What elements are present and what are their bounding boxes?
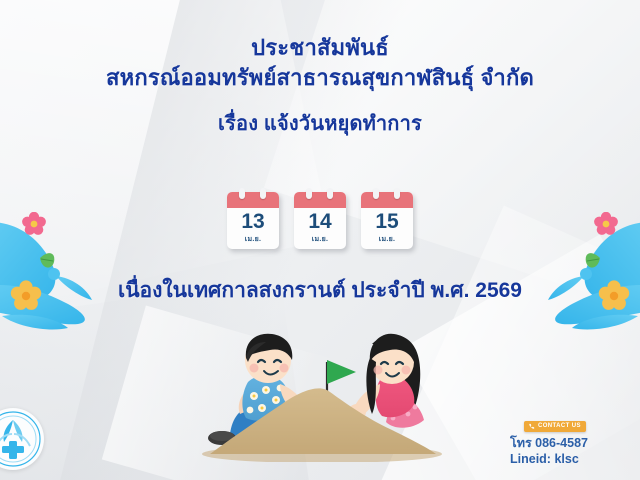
calendar-icon: 15 เม.ย. (361, 192, 413, 249)
children-sand-pagoda-illustration (196, 322, 446, 467)
calendar-day-number: 14 (294, 208, 346, 236)
calendar-header-band (294, 192, 346, 208)
calendar-ring-icon (260, 188, 266, 199)
calendar-ring-icon (394, 188, 400, 199)
calendar-ring-icon (239, 188, 245, 199)
contact-us-badge[interactable]: CONTACT US (524, 421, 586, 432)
calendar-month-label: เม.ย. (294, 234, 346, 245)
calendar-month-label: เม.ย. (227, 234, 279, 245)
holiday-dates-row: 13 เม.ย. 14 เม.ย. 15 เม.ย. (0, 192, 640, 249)
contact-phone: โทร 086-4587 (510, 435, 640, 452)
contact-us-label: CONTACT US (538, 423, 581, 429)
organization-name: สหกรณ์ออมทรัพย์สาธารณสุขกาฬสินธุ์ จำกัด (0, 64, 640, 92)
cooperative-logo (0, 408, 44, 470)
green-flag-icon (327, 360, 356, 384)
heading-block: ประชาสัมพันธ์ สหกรณ์ออมทรัพย์สาธารณสุขกา… (0, 34, 640, 138)
calendar-header-band (227, 192, 279, 208)
calendar-month-label: เม.ย. (361, 234, 413, 245)
calendar-ring-icon (306, 188, 312, 199)
calendar-ring-icon (327, 188, 333, 199)
calendar-icon: 13 เม.ย. (227, 192, 279, 249)
songkran-holiday-poster: ประชาสัมพันธ์ สหกรณ์ออมทรัพย์สาธารณสุขกา… (0, 0, 640, 480)
calendar-icon: 14 เม.ย. (294, 192, 346, 249)
calendar-ring-icon (373, 188, 379, 199)
page-title-line-1: ประชาสัมพันธ์ (0, 34, 640, 62)
contact-block: CONTACT US โทร 086-4587 Lineid: klsc (510, 417, 640, 469)
announcement-subject: เรื่อง แจ้งวันหยุดทำการ (0, 112, 640, 138)
calendar-day-number: 15 (361, 208, 413, 236)
contact-lineid: Lineid: klsc (510, 451, 640, 468)
phone-icon (528, 423, 535, 430)
calendar-day-number: 13 (227, 208, 279, 236)
festival-occasion-text: เนื่องในเทศกาลสงกรานต์ ประจำปี พ.ศ. 2569 (0, 274, 640, 307)
calendar-header-band (361, 192, 413, 208)
